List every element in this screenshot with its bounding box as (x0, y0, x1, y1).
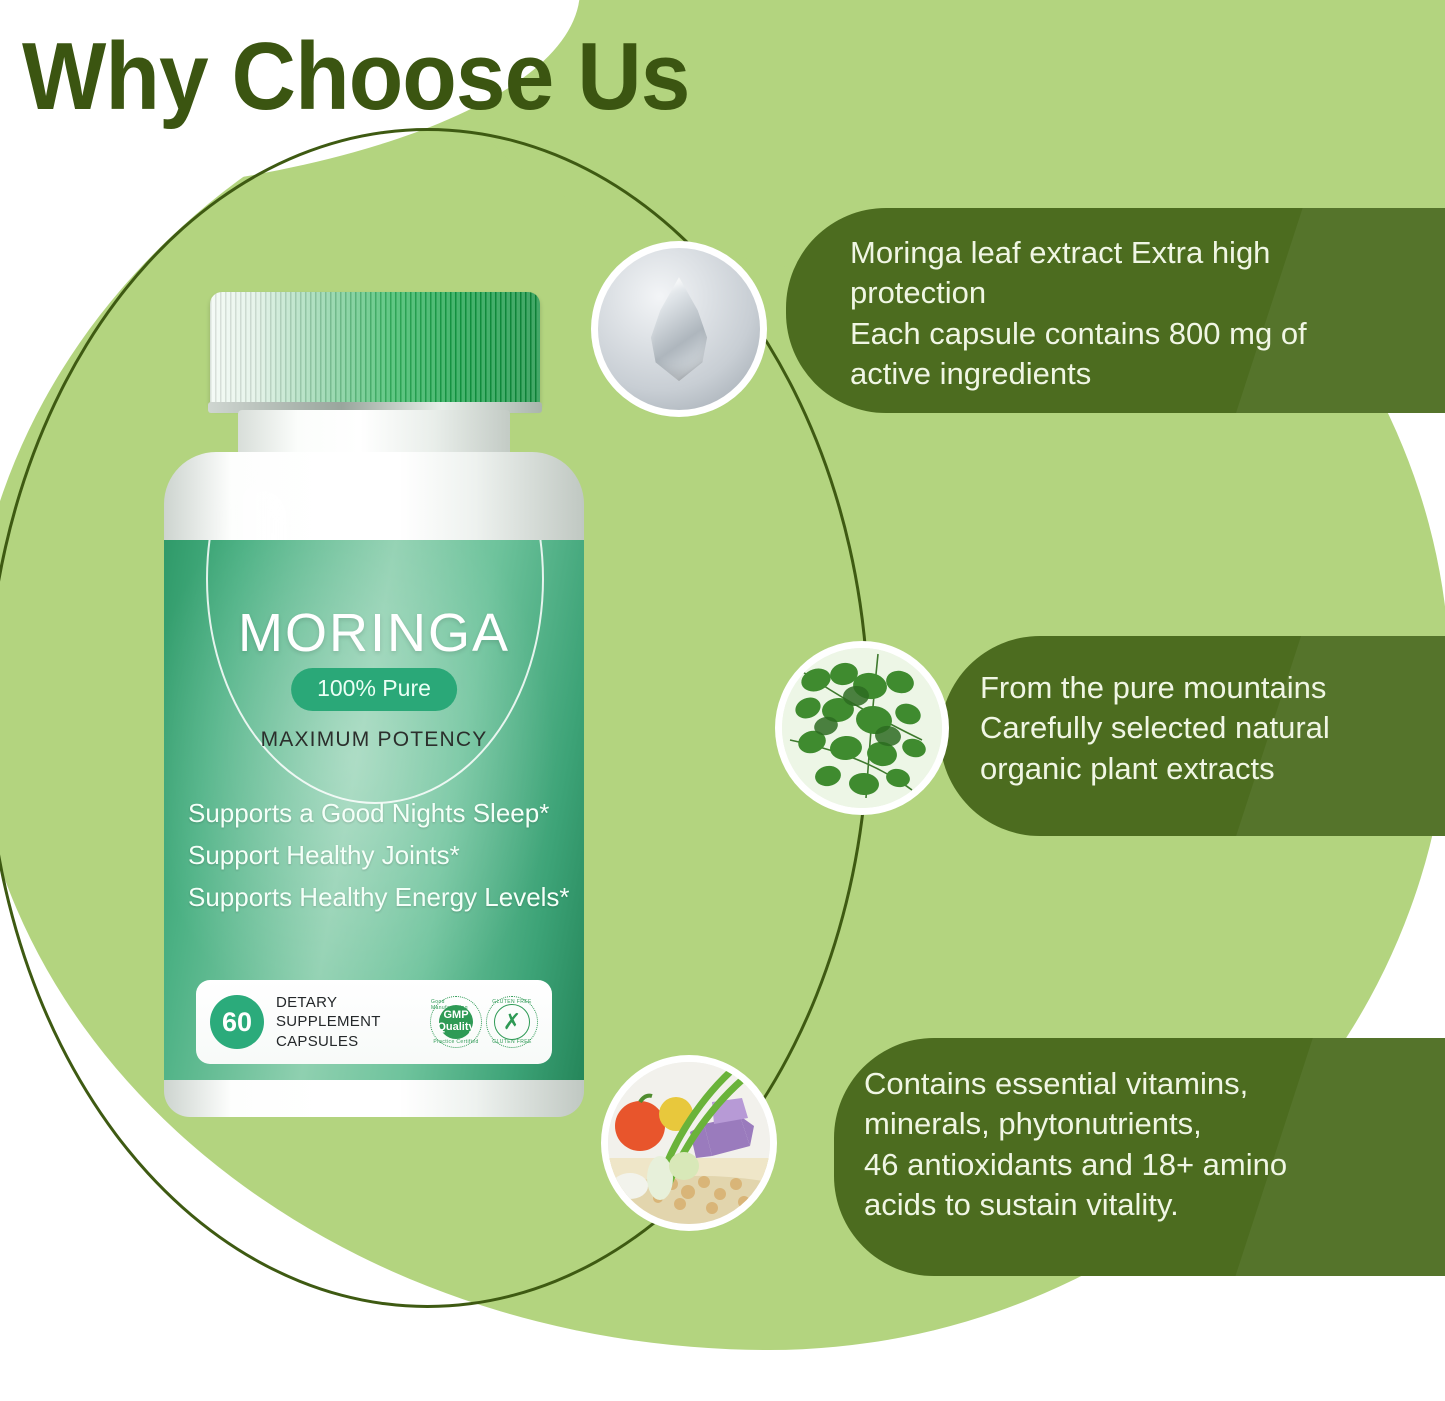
callout-2-text: From the pure mountains Carefully select… (980, 668, 1431, 789)
page-title: Why Choose Us (22, 22, 689, 132)
potency-text: MAXIMUM POTENCY (164, 728, 584, 752)
callout-1-text: Moringa leaf extract Extra high protecti… (850, 233, 1427, 394)
purity-badge: 100% Pure (291, 668, 457, 711)
callout-box-1: Moringa leaf extract Extra high protecti… (786, 208, 1445, 413)
claim-item: Support Healthy Joints* (188, 834, 580, 876)
nutrients-icon (608, 1062, 770, 1224)
gmp-seal-ring-top: Good Manufacturing (431, 999, 481, 1011)
claim-item: Supports a Good Nights Sleep* (188, 792, 580, 834)
gluten-seal-ring-top: GLUTEN FREE (492, 999, 531, 1005)
callout-box-3: Contains essential vitamins, minerals, p… (834, 1038, 1445, 1276)
callout-1-inner: Moringa leaf extract Extra high protecti… (850, 233, 1427, 394)
gmp-quality-seal-icon: Good Manufacturing Practice Certified GM… (430, 996, 482, 1048)
label-footer-strip: 60 DETARY SUPPLEMENT CAPSULES Good Manuf… (196, 980, 552, 1064)
claims-list: Supports a Good Nights Sleep* Support He… (188, 792, 580, 918)
gluten-seal-ring-bottom: GLUTEN FREE (492, 1039, 531, 1045)
nutrients-icon-art (608, 1062, 770, 1224)
gmp-seal-line2: Quality (437, 1022, 474, 1034)
callout-2-inner: From the pure mountains Carefully select… (980, 668, 1431, 789)
callout-3-inner: Contains essential vitamins, minerals, p… (864, 1064, 1431, 1225)
capsule-count-badge: 60 (210, 995, 264, 1049)
moringa-leaves-icon (782, 648, 942, 808)
gluten-free-seal-icon: GLUTEN FREE GLUTEN FREE ✗ (486, 996, 538, 1048)
droplet-icon (598, 248, 760, 410)
supplement-type-label: DETARY SUPPLEMENT CAPSULES (276, 993, 426, 1051)
product-bottle: MORINGA 100% Pure MAXIMUM POTENCY Suppor… (152, 292, 592, 1122)
supplement-type-line2: CAPSULES (276, 1032, 426, 1051)
supplement-type-line1: DETARY SUPPLEMENT (276, 993, 426, 1031)
callout-box-2: From the pure mountains Carefully select… (940, 636, 1445, 836)
moringa-leaves-icon-art (782, 648, 942, 808)
bottle-label: MORINGA 100% Pure MAXIMUM POTENCY Suppor… (164, 540, 584, 1080)
claim-item: Supports Healthy Energy Levels* (188, 876, 580, 918)
callout-3-text: Contains essential vitamins, minerals, p… (864, 1064, 1431, 1225)
gmp-seal-ring-bottom: Practice Certified (433, 1039, 478, 1045)
bottle-cap (210, 292, 540, 407)
gluten-seal-core: ✗ (494, 1004, 530, 1040)
brand-name: MORINGA (164, 602, 584, 664)
